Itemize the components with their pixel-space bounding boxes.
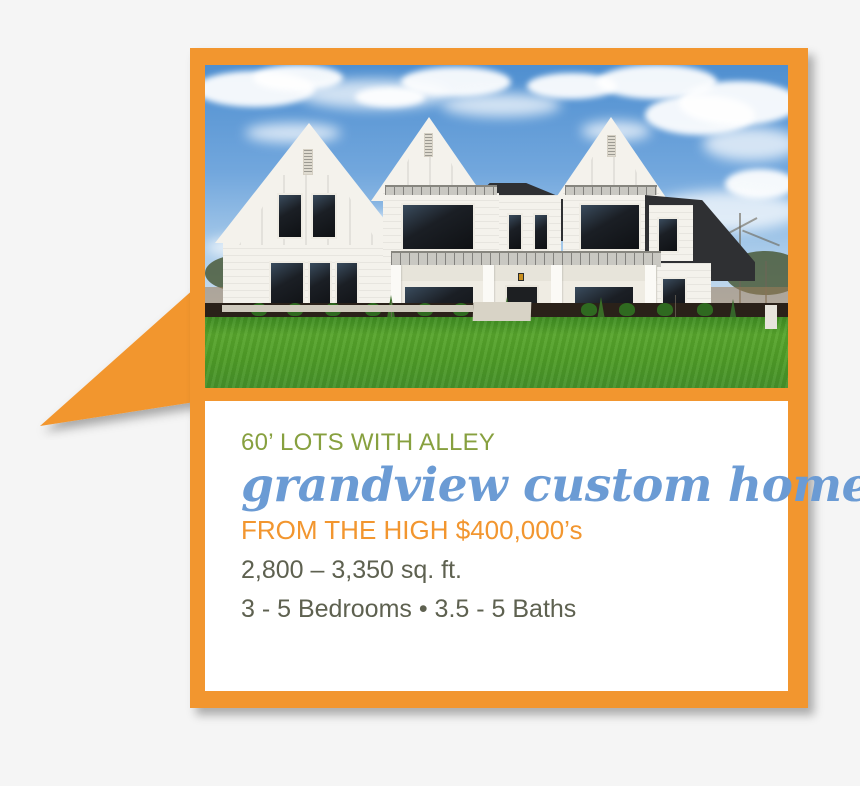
front-walkway xyxy=(473,302,532,321)
house-photo xyxy=(205,65,788,388)
listing-details-panel: 60’ LOTS WITH ALLEY grandview custom hom… xyxy=(205,401,788,691)
window xyxy=(533,213,549,251)
window xyxy=(657,217,679,253)
window xyxy=(277,193,303,239)
window xyxy=(507,213,523,251)
square-footage: 2,800 – 3,350 sq. ft. xyxy=(241,551,752,590)
window-awning xyxy=(565,185,657,195)
cloud-icon xyxy=(679,81,788,125)
sidewalk xyxy=(222,305,473,312)
price-label: FROM THE HIGH $400,000’s xyxy=(241,516,752,546)
gable-vent xyxy=(303,149,313,175)
promo-card: 60’ LOTS WITH ALLEY grandview custom hom… xyxy=(190,48,808,708)
tail-triangle xyxy=(40,288,195,426)
shrub xyxy=(619,303,635,316)
community-name: grandview custom homes xyxy=(241,461,752,510)
porch-ceiling xyxy=(395,265,657,281)
shrub xyxy=(697,303,713,316)
window xyxy=(401,203,475,251)
lot-type-label: 60’ LOTS WITH ALLEY xyxy=(241,431,752,455)
lawn xyxy=(205,317,788,388)
cloud-icon xyxy=(441,93,561,117)
utility-box xyxy=(765,305,777,329)
shrub xyxy=(657,303,673,316)
window xyxy=(311,193,337,239)
cloud-icon xyxy=(703,127,788,161)
room-counts: 3 - 5 Bedrooms • 3.5 - 5 Baths xyxy=(241,590,752,629)
window xyxy=(579,203,641,251)
gable-vent xyxy=(424,133,433,157)
window-awning xyxy=(385,185,497,195)
gable-vent xyxy=(607,135,616,157)
porch-lantern-icon xyxy=(518,273,524,281)
